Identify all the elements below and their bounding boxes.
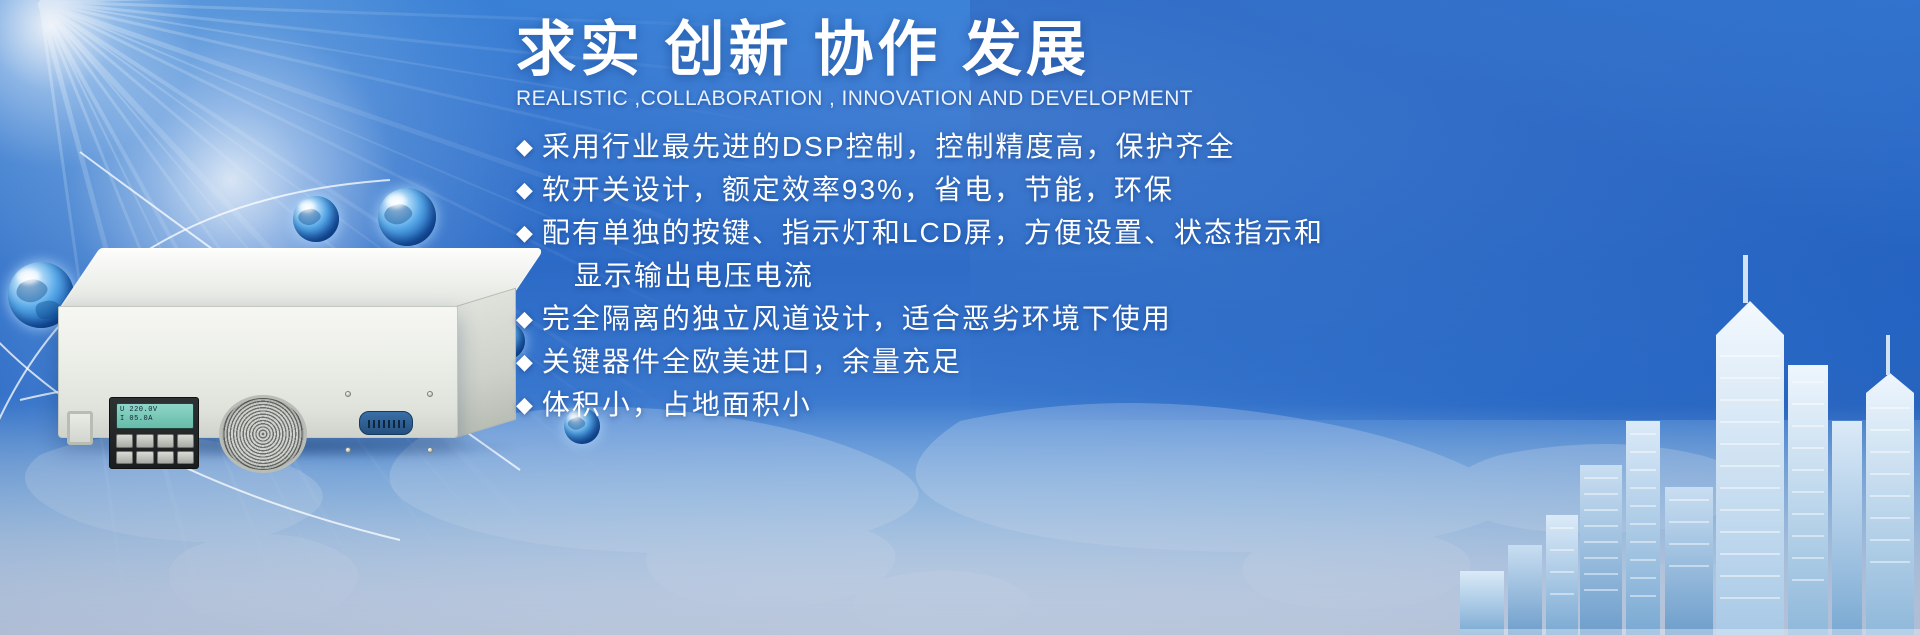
device-keypad[interactable] [116,434,194,464]
rack-mount-power-supply: U 220.0V I 05.0A [58,248,503,523]
diamond-bullet-icon: ◆ [516,297,535,340]
diamond-bullet-icon: ◆ [516,383,535,426]
device-handle-left [67,411,93,445]
device-screw [427,391,433,397]
keypad-key[interactable] [177,451,194,465]
list-item-label: 关键器件全欧美进口，余量充足 [542,340,962,383]
globe-continents [293,196,339,242]
keypad-key[interactable] [116,434,133,448]
list-item: ◆ 配有单独的按键、指示灯和LCD屏，方便设置、状态指示和 [516,211,1676,254]
feature-list: ◆ 采用行业最先进的DSP控制，控制精度高，保护齐全 ◆ 软开关设计，额定效率9… [516,125,1676,426]
device-lcd-screen: U 220.0V I 05.0A [116,403,194,429]
device-db9-port [359,411,413,435]
diamond-bullet-icon: ◆ [516,168,535,211]
device-screw [345,391,351,397]
keypad-key[interactable] [116,451,133,465]
diamond-bullet-icon: ◆ [516,125,535,168]
list-item: ◆ 完全隔离的独立风道设计，适合恶劣环境下使用 [516,297,1676,340]
keypad-key[interactable] [177,434,194,448]
page-title: 求实 创新 协作 发展 [516,18,1676,83]
list-item-label: 配有单独的按键、指示灯和LCD屏，方便设置、状态指示和 [542,211,1324,254]
list-item-continuation: ◆ 显示输出电压电流 [516,254,1676,297]
list-item: ◆ 软开关设计，额定效率93%，省电，节能，环保 [516,168,1676,211]
diamond-bullet-icon: ◆ [516,211,535,254]
device-screw [345,447,351,453]
list-item-label: 完全隔离的独立风道设计，适合恶劣环境下使用 [542,297,1172,340]
keypad-key[interactable] [157,434,174,448]
list-item-label: 显示输出电压电流 [574,254,814,297]
device-front-panel: U 220.0V I 05.0A [58,306,458,438]
keypad-key[interactable] [136,434,153,448]
device-control-panel: U 220.0V I 05.0A [109,397,199,469]
device-screw [427,447,433,453]
list-item: ◆ 关键器件全欧美进口，余量充足 [516,340,1676,383]
diamond-bullet-icon: ◆ [516,340,535,383]
list-item-label: 采用行业最先进的DSP控制，控制精度高，保护齐全 [542,125,1236,168]
product-banner: U 220.0V I 05.0A [0,0,1920,635]
banner-text-block: 求实 创新 协作 发展 REALISTIC ,COLLABORATION , I… [516,18,1676,426]
device-fan-grille [219,395,307,473]
page-subtitle: REALISTIC ,COLLABORATION , INNOVATION AN… [516,87,1676,111]
globe-icon-2 [293,196,339,242]
list-item: ◆ 体积小，占地面积小 [516,383,1676,426]
globe-continents [378,188,436,246]
keypad-key[interactable] [157,451,174,465]
list-item-label: 体积小，占地面积小 [542,383,812,426]
list-item-label: 软开关设计，额定效率93%，省电，节能，环保 [542,168,1174,211]
lcd-line-2: I 05.0A [120,415,190,424]
list-item: ◆ 采用行业最先进的DSP控制，控制精度高，保护齐全 [516,125,1676,168]
keypad-key[interactable] [136,451,153,465]
lcd-line-1: U 220.0V [120,406,190,415]
device-side-panel [456,288,516,438]
globe-icon-3 [378,188,436,246]
